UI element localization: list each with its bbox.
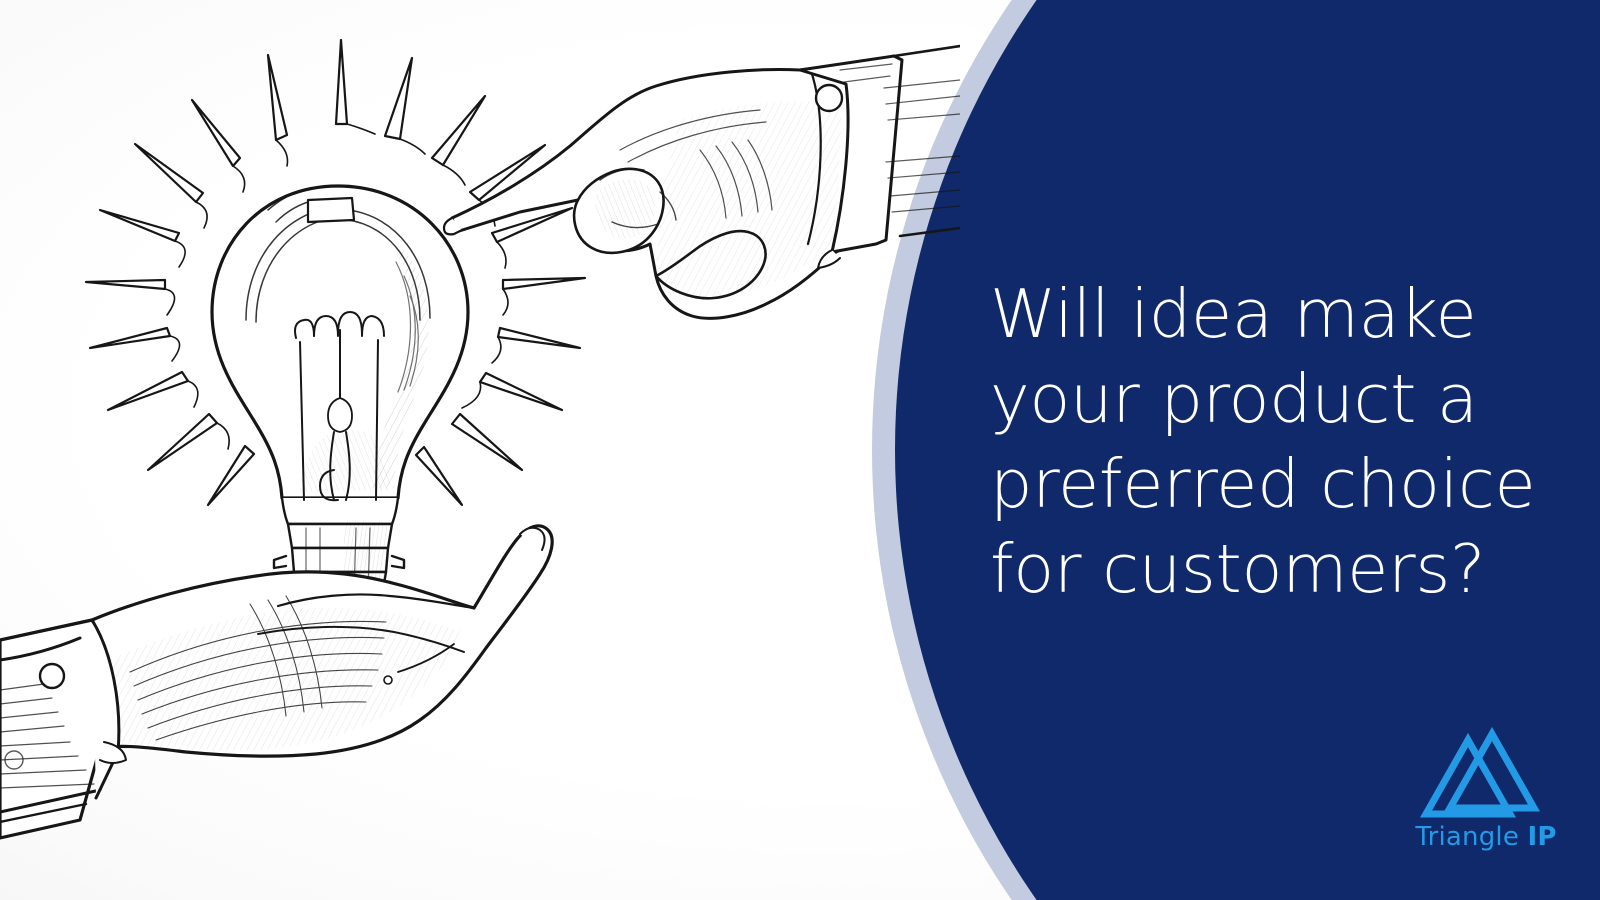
brand-word-secondary: IP	[1528, 822, 1557, 852]
illustration-lightbulb-hands	[0, 0, 960, 900]
page-title: Will idea make your product a preferred …	[990, 272, 1550, 612]
brand-logo-text: Triangle IP	[1398, 822, 1574, 852]
brand-logo[interactable]: Triangle IP	[1398, 726, 1574, 858]
slide-canvas: Will idea make your product a preferred …	[0, 0, 1600, 900]
open-palm-hand-sketch	[0, 526, 552, 838]
lightbulb-sketch	[212, 186, 468, 596]
triangle-ip-mark-icon	[1398, 726, 1574, 822]
brand-word-primary: Triangle	[1415, 822, 1519, 852]
pointing-hand-sketch	[444, 46, 960, 318]
